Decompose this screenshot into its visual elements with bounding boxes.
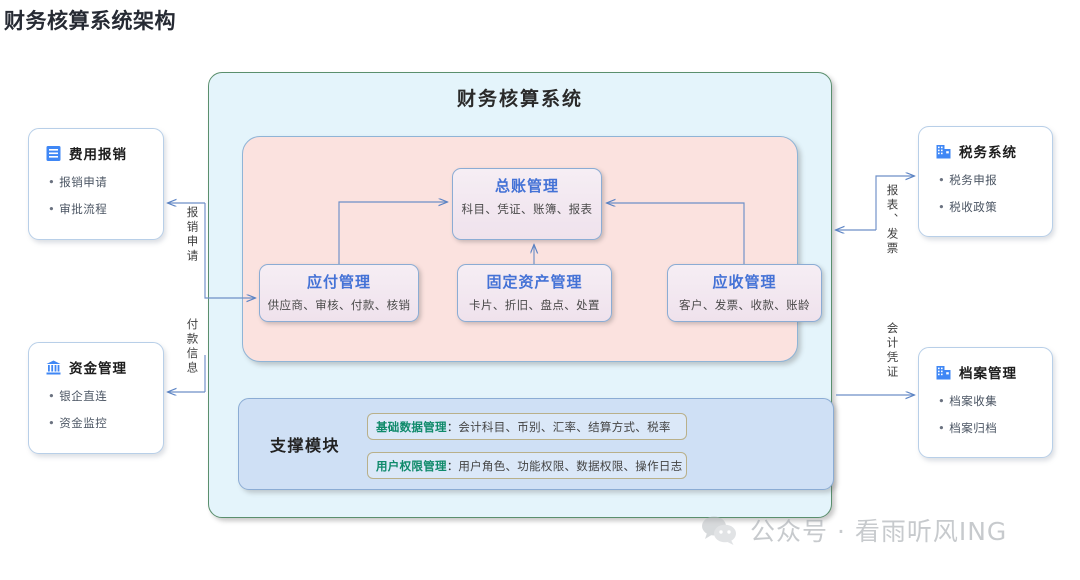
support-row-colon: ：: [447, 419, 459, 435]
module-subtitle: 卡片、折旧、盘点、处置: [458, 297, 611, 313]
support-row-value: 用户角色、功能权限、数据权限、操作日志: [458, 458, 682, 474]
edge-label-core-to-archive: 会计凭证: [886, 322, 898, 380]
card-item-label: 税收政策: [949, 200, 997, 214]
card-item-label: 档案收集: [949, 394, 997, 408]
edge-label-core-to-tax: 报表、发票: [886, 184, 898, 257]
card-header: 档案管理: [935, 362, 1038, 382]
bullet-icon: •: [938, 200, 945, 214]
support-row-key: 基础数据管理: [376, 419, 447, 435]
card-list-item: •税收政策: [935, 199, 1038, 215]
support-row-value: 会计科目、币别、汇率、结算方式、税率: [458, 419, 670, 435]
edge-label-fund-to-core: 付款信息: [186, 318, 198, 376]
watermark-text: 公众号 · 看雨听风ING: [750, 512, 1007, 548]
module-subtitle: 科目、凭证、账簿、报表: [453, 201, 601, 217]
card-title: 费用报销: [69, 143, 127, 163]
card-item-label: 报销申请: [59, 175, 107, 189]
bullet-icon: •: [938, 421, 945, 435]
bank-icon: [45, 359, 62, 376]
card-list-item: •报销申请: [45, 174, 149, 190]
card-list-item: •审批流程: [45, 201, 149, 217]
card-item-label: 银企直连: [59, 389, 107, 403]
module-fixed-assets[interactable]: 固定资产管理 卡片、折旧、盘点、处置: [457, 264, 612, 322]
card-item-label: 审批流程: [59, 202, 107, 216]
bullet-icon: •: [48, 416, 55, 430]
building-icon: [935, 143, 952, 160]
support-row-user-permission[interactable]: 用户权限管理 ： 用户角色、功能权限、数据权限、操作日志: [367, 452, 687, 479]
module-accounts-receivable[interactable]: 应收管理 客户、发票、收款、账龄: [667, 264, 822, 322]
bullet-icon: •: [938, 173, 945, 187]
card-header: 资金管理: [45, 357, 149, 377]
watermark: 公众号 · 看雨听风ING: [700, 512, 1007, 548]
card-list-item: •银企直连: [45, 388, 149, 404]
module-subtitle: 供应商、审核、付款、核销: [260, 297, 418, 313]
card-title: 档案管理: [959, 362, 1017, 382]
card-list-item: •档案归档: [935, 420, 1038, 436]
bullet-icon: •: [938, 394, 945, 408]
wire-ar-to-gl: [607, 203, 744, 264]
module-title: 总账管理: [453, 176, 601, 196]
wire-ap-to-gl: [339, 202, 447, 264]
external-card-tax-system[interactable]: 税务系统 •税务申报 •税收政策: [918, 126, 1053, 237]
card-item-label: 档案归档: [949, 421, 997, 435]
bullet-icon: •: [48, 389, 55, 403]
support-row-basic-data[interactable]: 基础数据管理 ： 会计科目、币别、汇率、结算方式、税率: [367, 413, 687, 440]
building-icon: [935, 364, 952, 381]
card-list-item: •档案收集: [935, 393, 1038, 409]
module-title: 应付管理: [260, 272, 418, 292]
bullet-icon: •: [48, 202, 55, 216]
card-title: 税务系统: [959, 141, 1017, 161]
card-list-item: •资金监控: [45, 415, 149, 431]
module-title: 固定资产管理: [458, 272, 611, 292]
card-header: 费用报销: [45, 143, 149, 163]
external-card-expense-reimbursement[interactable]: 费用报销 •报销申请 •审批流程: [28, 128, 164, 240]
external-card-archive-management[interactable]: 档案管理 •档案收集 •档案归档: [918, 347, 1053, 458]
list-document-icon: [45, 145, 62, 162]
card-item-label: 税务申报: [949, 173, 997, 187]
card-title: 资金管理: [69, 357, 127, 377]
card-item-label: 资金监控: [59, 416, 107, 430]
external-card-fund-management[interactable]: 资金管理 •银企直连 •资金监控: [28, 342, 164, 454]
card-list-item: •税务申报: [935, 172, 1038, 188]
edge-label-expense-to-core: 报销申请: [186, 206, 198, 264]
support-row-colon: ：: [447, 458, 459, 474]
support-row-key: 用户权限管理: [376, 458, 447, 474]
module-title: 应收管理: [668, 272, 821, 292]
bullet-icon: •: [48, 175, 55, 189]
card-header: 税务系统: [935, 141, 1038, 161]
module-subtitle: 客户、发票、收款、账龄: [668, 297, 821, 313]
module-accounts-payable[interactable]: 应付管理 供应商、审核、付款、核销: [259, 264, 419, 322]
support-group-label: 支撑模块: [250, 432, 360, 456]
wechat-icon: [700, 515, 738, 545]
module-general-ledger[interactable]: 总账管理 科目、凭证、账簿、报表: [452, 168, 602, 240]
wire-expense-to-ap: [205, 203, 255, 298]
